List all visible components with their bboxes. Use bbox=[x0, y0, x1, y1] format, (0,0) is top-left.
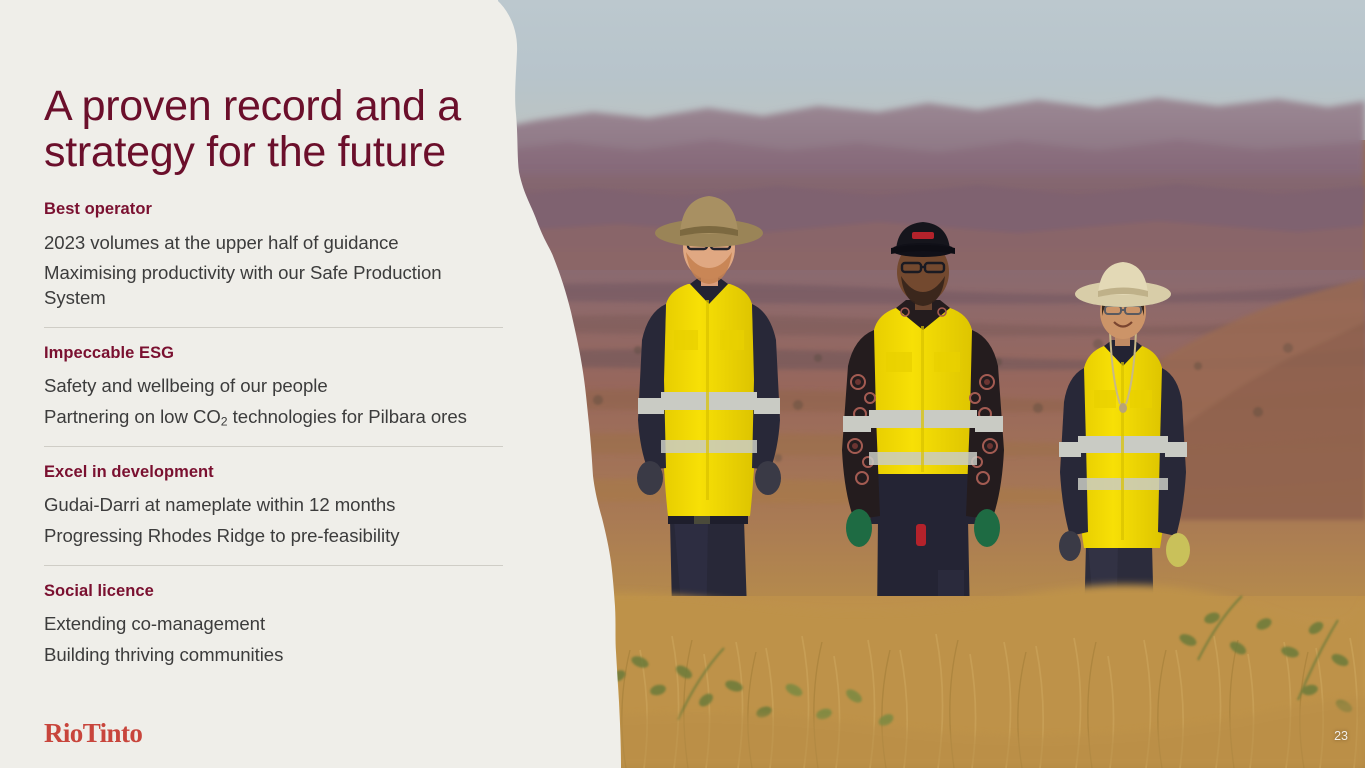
co2-subscript: 2 bbox=[221, 415, 228, 429]
page-title: A proven record and a strategy for the f… bbox=[44, 83, 494, 175]
section-heading: Excel in development bbox=[44, 464, 506, 481]
section-heading: Impeccable ESG bbox=[44, 345, 506, 362]
section-best-operator: Best operator 2023 volumes at the upper … bbox=[44, 201, 506, 311]
slide-content: A proven record and a strategy for the f… bbox=[0, 0, 520, 768]
section-line: Progressing Rhodes Ridge to pre-feasibil… bbox=[44, 524, 506, 549]
section-excel-in-development: Excel in development Gudai-Darri at name… bbox=[44, 464, 506, 549]
pilbara-workers-photo bbox=[498, 0, 1365, 768]
section-social-licence: Social licence Extending co-management B… bbox=[44, 583, 506, 668]
section-line: 2023 volumes at the upper half of guidan… bbox=[44, 231, 506, 256]
co2-line-after: technologies for Pilbara ores bbox=[228, 406, 467, 427]
section-line: Building thriving communities bbox=[44, 643, 506, 668]
section-heading: Social licence bbox=[44, 583, 506, 600]
section-impeccable-esg: Impeccable ESG Safety and wellbeing of o… bbox=[44, 345, 506, 430]
section-line: Maximising productivity with our Safe Pr… bbox=[44, 261, 506, 310]
sections-list: Best operator 2023 volumes at the upper … bbox=[44, 201, 506, 667]
slide: A proven record and a strategy for the f… bbox=[0, 0, 1365, 768]
section-divider bbox=[44, 327, 503, 328]
section-divider bbox=[44, 565, 503, 566]
section-line: Extending co-management bbox=[44, 612, 506, 637]
section-divider bbox=[44, 446, 503, 447]
rio-tinto-logo: RioTinto bbox=[44, 720, 142, 747]
page-number: 23 bbox=[1334, 729, 1348, 743]
section-line-co2: Partnering on low CO2 technologies for P… bbox=[44, 405, 506, 430]
co2-line-before: Partnering on low CO bbox=[44, 406, 221, 427]
section-line: Gudai-Darri at nameplate within 12 month… bbox=[44, 493, 506, 518]
section-line: Safety and wellbeing of our people bbox=[44, 374, 506, 399]
section-heading: Best operator bbox=[44, 201, 506, 218]
